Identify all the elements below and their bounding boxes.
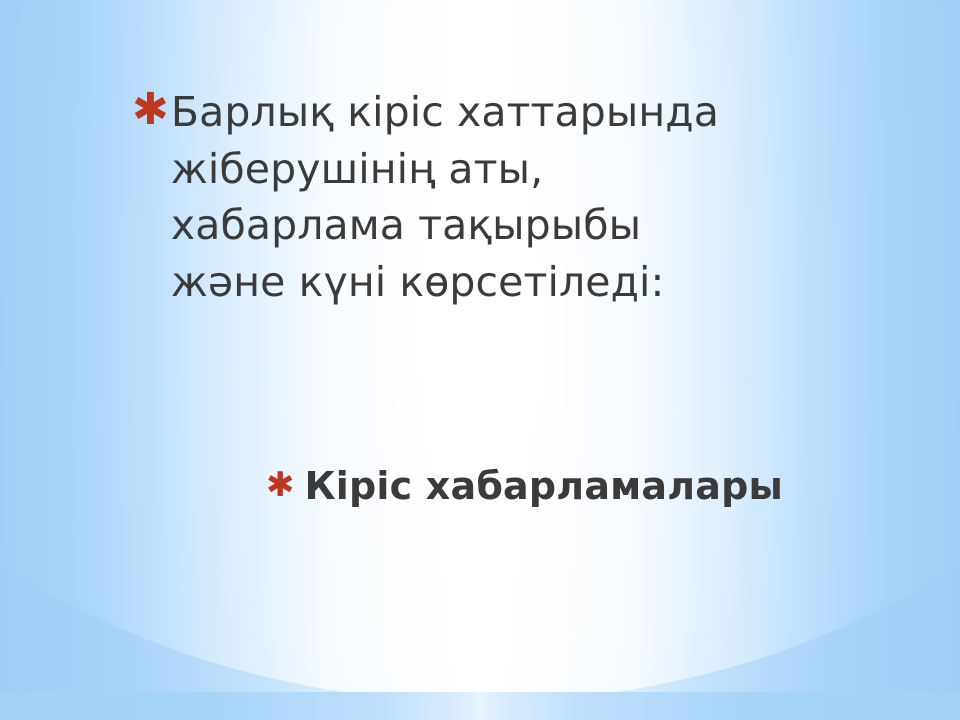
- bullet-item-1: ✱ Барлық кіріс хаттарында жіберушінің ат…: [132, 84, 832, 310]
- bullet-item-2-text: Кіріс хабарламалары: [305, 462, 784, 511]
- asterisk-bullet-icon: ✱: [132, 88, 169, 132]
- asterisk-bullet-icon: ✱: [266, 468, 295, 502]
- bullet-item-2: ✱ Кіріс хабарламалары: [266, 462, 926, 511]
- slide-content: ✱ Барлық кіріс хаттарында жіберушінің ат…: [0, 0, 960, 720]
- bullet-item-1-text: Барлық кіріс хаттарында жіберушінің аты,…: [171, 84, 731, 310]
- presentation-slide: ✱ Барлық кіріс хаттарында жіберушінің ат…: [0, 0, 960, 720]
